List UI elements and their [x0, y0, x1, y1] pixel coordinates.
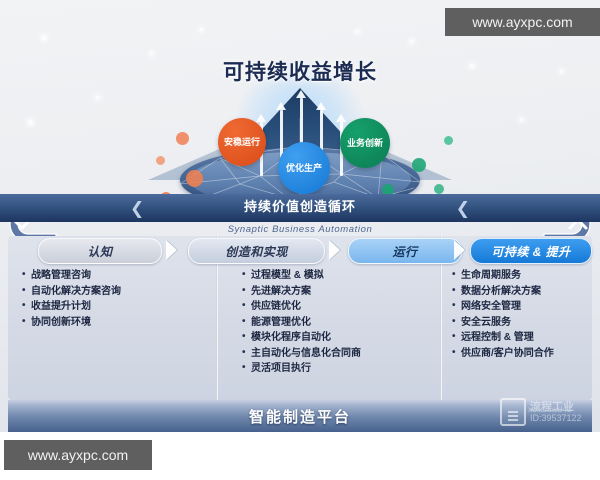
list-item: 供应链优化	[242, 299, 442, 315]
watermark-top-right: www.ayxpc.com	[445, 8, 600, 36]
growth-arrow-head	[256, 114, 266, 122]
bubble-stable-operation[interactable]: 安稳运行	[218, 118, 266, 166]
stage-label: 认知	[87, 243, 112, 260]
stage-arrow-icon	[454, 240, 465, 260]
infographic-canvas: 可持续收益增长	[0, 0, 600, 432]
list-item: 过程模型 & 模拟	[242, 268, 442, 284]
platform-label: 智能制造平台	[249, 406, 351, 427]
page-title: 可持续收益增长	[0, 56, 600, 86]
list-item: 灵活项目执行	[242, 361, 442, 377]
column-sustain-improve: 生命周期服务 数据分析解决方案 网络安全管理 安全云服务 远程控制 & 管理 供…	[452, 268, 600, 361]
source-watermark-badge: 流程工业 ID:39537122 xukamaid41	[500, 396, 596, 428]
bubble-label: 业务创新	[347, 138, 383, 148]
stage-pill-create-realize[interactable]: 创造和实现	[188, 238, 325, 264]
stage-label: 可持续 & 提升	[491, 243, 570, 260]
list-item: 先进解决方案	[242, 284, 442, 300]
list-item: 供应商/客户协同合作	[452, 346, 600, 362]
stage-arrow-icon	[329, 240, 340, 260]
growth-arrow-head	[316, 102, 326, 110]
watermark-bottom-left: www.ayxpc.com	[4, 440, 152, 470]
stage-pill-row: 认知 创造和实现 运行 可持续 & 提升	[8, 238, 592, 264]
stage-pill-cognition[interactable]: 认知	[38, 238, 162, 264]
cycle-title: 持续价值创造循环	[0, 196, 600, 215]
cycle-subtitle: Synaptic Business Automation	[0, 224, 600, 235]
growth-arrow-head	[276, 102, 286, 110]
document-icon	[500, 398, 526, 426]
bubble-optimized-production[interactable]: 优化生产	[278, 142, 330, 194]
stage-pill-operate[interactable]: 运行	[348, 238, 462, 264]
bubble-label: 优化生产	[286, 163, 322, 173]
list-item: 收益提升计划	[22, 299, 202, 315]
growth-arrow-head	[296, 90, 306, 98]
stage-pill-sustain-improve[interactable]: 可持续 & 提升	[470, 238, 592, 264]
column-create-realize: 过程模型 & 模拟 先进解决方案 供应链优化 能源管理优化 模块化程序自动化 主…	[242, 268, 442, 377]
stage-arrow-icon	[166, 240, 177, 260]
growth-arrow-head	[336, 114, 346, 122]
list-item: 远程控制 & 管理	[452, 330, 600, 346]
list-item: 协同创新环境	[22, 315, 202, 331]
column-cognition: 战略管理咨询 自动化解决方案咨询 收益提升计划 协同创新环境	[22, 268, 202, 330]
badge-id: ID:39537122	[530, 413, 582, 423]
stage-label: 运行	[392, 243, 417, 260]
list-item: 战略管理咨询	[22, 268, 202, 284]
list-item: 生命周期服务	[452, 268, 600, 284]
list-item: 能源管理优化	[242, 315, 442, 331]
list-item: 模块化程序自动化	[242, 330, 442, 346]
bubble-business-innovation[interactable]: 业务创新	[340, 118, 390, 168]
list-item: 主自动化与信息化合同商	[242, 346, 442, 362]
list-item: 安全云服务	[452, 315, 600, 331]
list-item: 自动化解决方案咨询	[22, 284, 202, 300]
badge-username: xukamaid41	[528, 405, 571, 414]
list-item: 数据分析解决方案	[452, 284, 600, 300]
bubble-label: 安稳运行	[224, 137, 260, 147]
list-item: 网络安全管理	[452, 299, 600, 315]
stage-label: 创造和实现	[225, 243, 288, 260]
